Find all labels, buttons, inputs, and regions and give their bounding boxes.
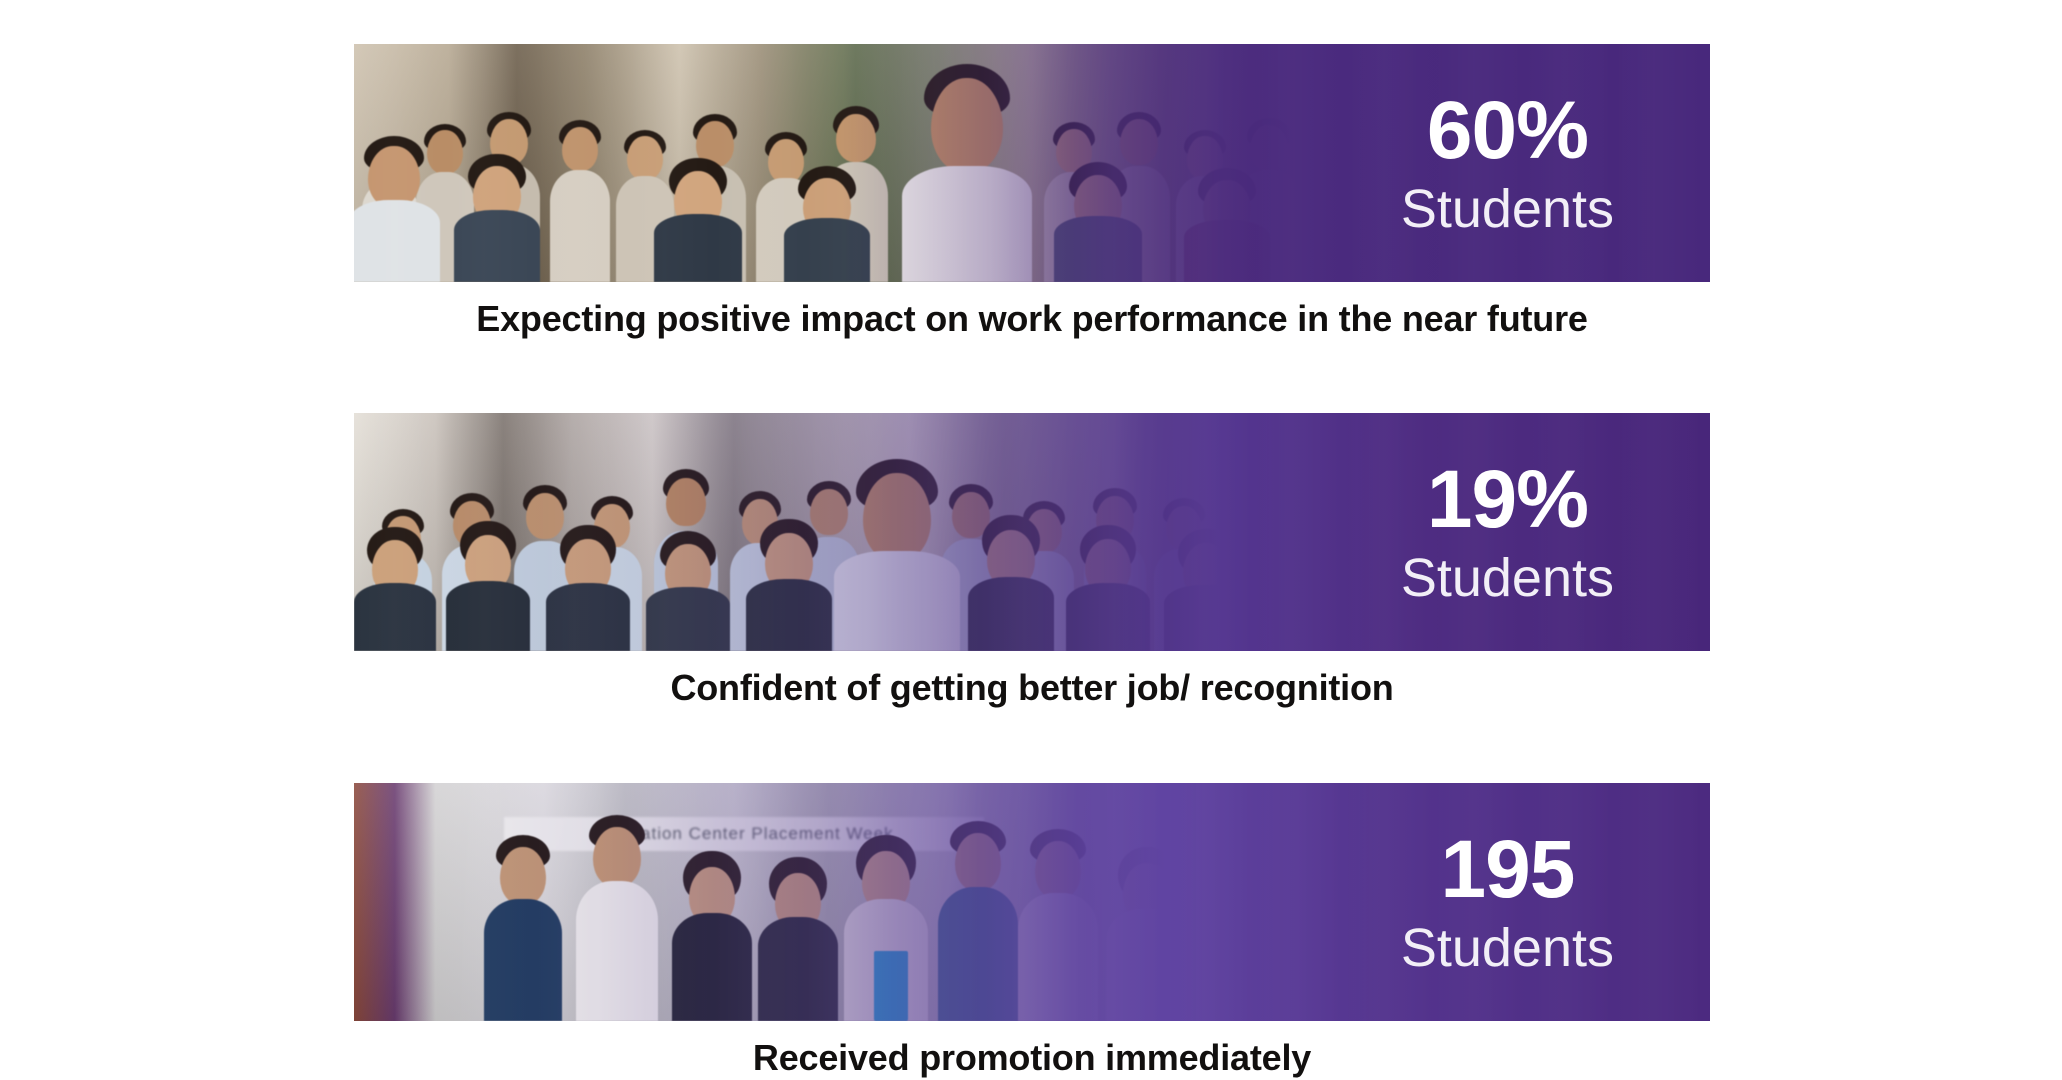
stats-page: 60% Students Expecting positive impact o…	[0, 0, 2062, 1080]
stat-unit: Students	[1401, 551, 1614, 605]
stat-block: Innovation Center Placement Week	[354, 783, 1710, 1080]
stat-unit: Students	[1401, 921, 1614, 975]
stat-banner: Innovation Center Placement Week	[354, 783, 1710, 1021]
stat-value: 60%	[1401, 90, 1614, 172]
stat-caption: Confident of getting better job/ recogni…	[354, 665, 1710, 710]
stat-unit: Students	[1401, 182, 1614, 236]
stat-caption: Received promotion immediately	[354, 1035, 1710, 1080]
stat-value: 195	[1401, 829, 1614, 911]
stat-block: 60% Students Expecting positive impact o…	[354, 44, 1710, 341]
stats-list: 60% Students Expecting positive impact o…	[354, 44, 1710, 1080]
stat-block: 19% Students Confident of getting better…	[354, 413, 1710, 710]
stat-callout: 195 Students	[1401, 829, 1614, 975]
stat-banner: 19% Students	[354, 413, 1710, 651]
stat-banner: 60% Students	[354, 44, 1710, 282]
stat-callout: 19% Students	[1401, 459, 1614, 605]
stat-value: 19%	[1401, 459, 1614, 541]
stat-callout: 60% Students	[1401, 90, 1614, 236]
stat-caption: Expecting positive impact on work perfor…	[354, 296, 1710, 341]
